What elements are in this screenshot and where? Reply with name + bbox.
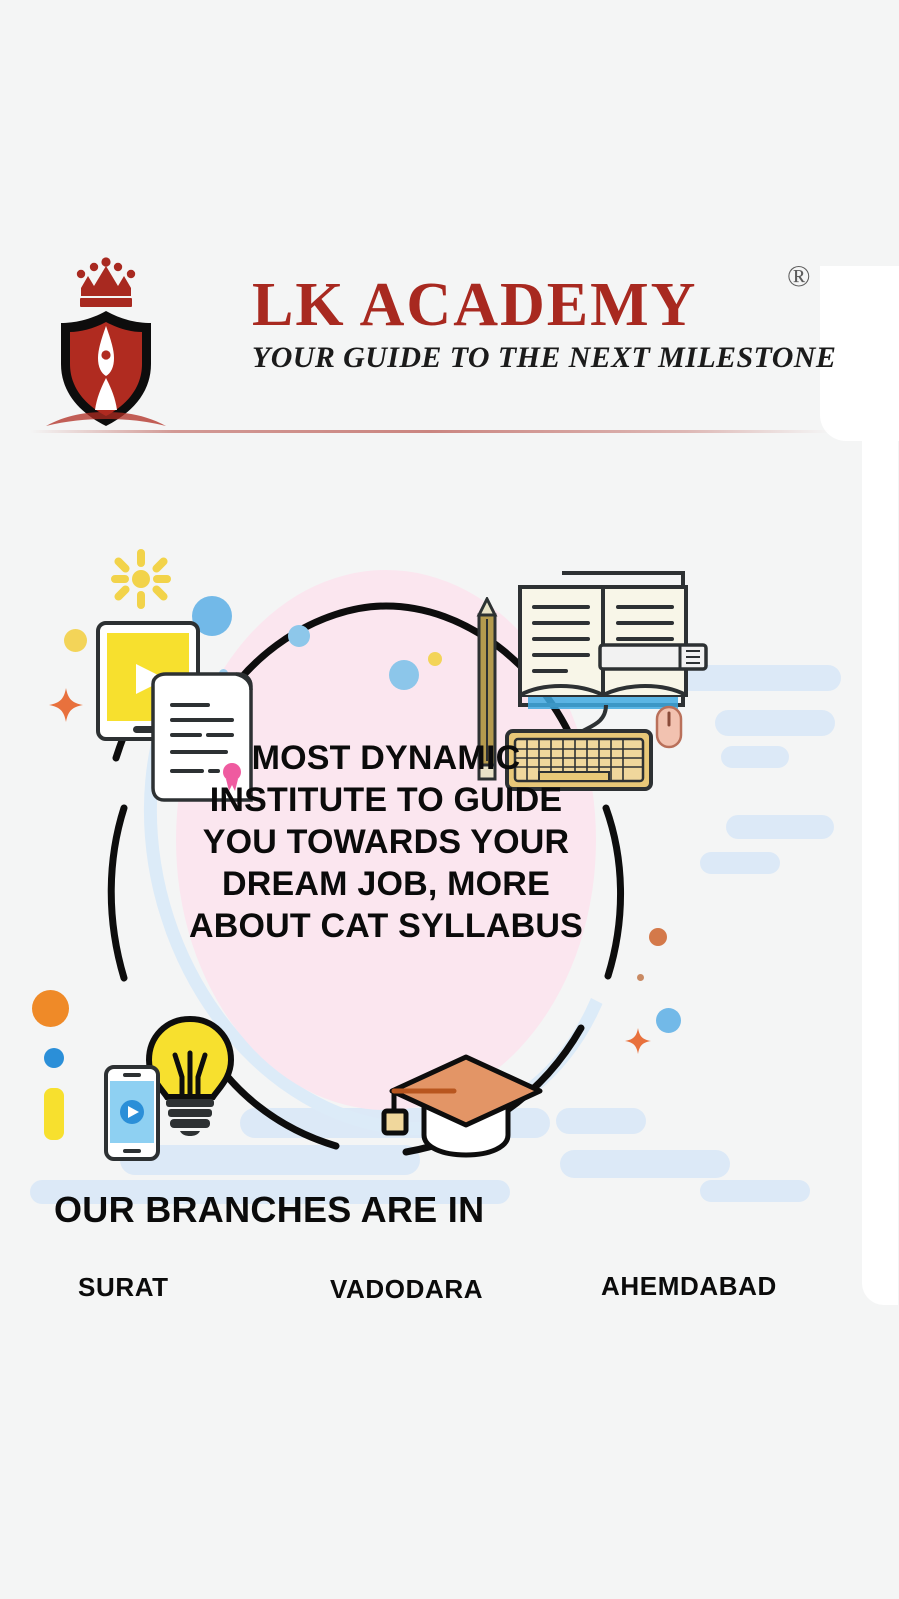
orange-sparkle-icon: [625, 1028, 651, 1059]
mouse-icon: [655, 705, 683, 754]
headline-text: MOST DYNAMIC INSTITUTE TO GUIDE YOU TOWA…: [186, 737, 586, 947]
sparkle-star-icon: [110, 548, 172, 615]
cloud-shape: [700, 852, 780, 874]
branch-surat: SURAT: [78, 1272, 169, 1303]
brand-divider: [30, 430, 830, 433]
registered-mark-icon: ®: [787, 258, 811, 294]
graduation-cap-icon: [368, 1033, 548, 1168]
cloud-shape: [721, 746, 789, 768]
cloud-shape: [726, 815, 834, 839]
eraser-icon: [598, 643, 708, 676]
brand-text-block: LK ACADEMY ® YOUR GUIDE TO THE NEXT MILE…: [252, 274, 852, 375]
brand-tagline: YOUR GUIDE TO THE NEXT MILESTONE: [252, 341, 852, 375]
blue-dot-medium: [288, 625, 310, 647]
yellow-bar: [44, 1088, 64, 1140]
crown-shield-pen-icon: [40, 254, 172, 432]
cloud-shape: [715, 710, 835, 736]
poster-canvas: LK ACADEMY ® YOUR GUIDE TO THE NEXT MILE…: [0, 0, 899, 1599]
yellow-dot-sm: [428, 652, 442, 666]
cloud-shape: [700, 1180, 810, 1202]
smartphone-play-icon: [104, 1065, 160, 1166]
blue-dot-left: [44, 1048, 64, 1068]
branches-title: OUR BRANCHES ARE IN: [54, 1189, 484, 1231]
branch-vadodara: VADODARA: [330, 1274, 483, 1305]
branch-ahemdabad: AHEMDABAD: [601, 1271, 777, 1302]
blue-dot-mid: [389, 660, 419, 690]
brand-logo: LK ACADEMY ® YOUR GUIDE TO THE NEXT MILE…: [0, 252, 860, 437]
yellow-dot: [64, 629, 87, 652]
orange-dot: [649, 928, 667, 946]
orange-dot-small: [637, 974, 644, 981]
blue-dot-right: [656, 1008, 681, 1033]
orange-sparkle-icon: [49, 688, 83, 727]
brand-title: LK ACADEMY: [252, 274, 852, 337]
orange-dot-large: [32, 990, 69, 1027]
